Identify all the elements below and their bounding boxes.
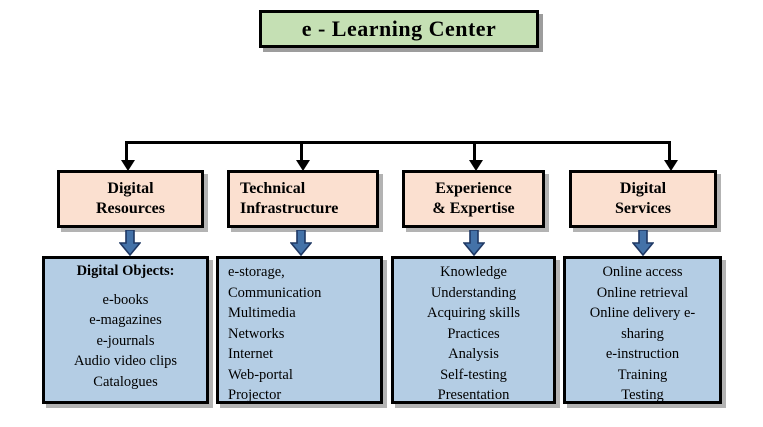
connector-drop-1: [125, 141, 128, 161]
e-learning-center-diagram: e - Learning Center Digital Resources Di…: [0, 0, 763, 427]
list-item: Training: [572, 365, 713, 386]
list-item: Networks: [228, 324, 374, 345]
content-list: e-books e-magazines e-journals Audio vid…: [51, 290, 200, 393]
list-item: Communication: [228, 283, 374, 304]
page-title: e - Learning Center: [302, 18, 497, 40]
list-item: Practices: [400, 324, 547, 345]
list-item: Presentation: [400, 385, 547, 404]
connector-drop-4: [668, 141, 671, 161]
content-box-experience-expertise: Knowledge Understanding Acquiring skills…: [391, 256, 556, 404]
header-line: Infrastructure: [240, 199, 338, 219]
header-line: Digital: [620, 179, 666, 199]
header-box-experience-expertise[interactable]: Experience & Expertise: [402, 170, 545, 228]
content-box-digital-resources: Digital Objects: e-books e-magazines e-j…: [42, 256, 209, 404]
list-item: Self-testing: [400, 365, 547, 386]
header-line: Experience: [435, 179, 511, 199]
block-arrow-down-icon: [290, 230, 312, 256]
block-arrow-down-icon: [632, 230, 654, 256]
list-item: Web-portal: [228, 365, 374, 386]
header-line: Digital: [107, 179, 153, 199]
list-item: e-magazines: [51, 310, 200, 331]
list-item: Acquiring skills: [400, 303, 547, 324]
list-item: Multimedia: [228, 303, 374, 324]
content-list: Online access Online retrieval Online de…: [572, 262, 713, 404]
list-item: Online delivery e-sharing: [572, 303, 713, 344]
header-box-digital-services[interactable]: Digital Services: [569, 170, 717, 228]
content-box-digital-services: Online access Online retrieval Online de…: [563, 256, 722, 404]
connector-drop-3: [473, 141, 476, 161]
header-box-digital-resources[interactable]: Digital Resources: [57, 170, 204, 228]
connector-bus-line: [125, 141, 671, 144]
list-item: e-instruction: [572, 344, 713, 365]
content-box-technical-infrastructure: e-storage, Communication Multimedia Netw…: [216, 256, 383, 404]
list-item: e-journals: [51, 331, 200, 352]
header-line: Resources: [96, 199, 165, 219]
list-item: Online access: [572, 262, 713, 283]
list-item: Knowledge: [400, 262, 547, 283]
connector-drop-2: [300, 141, 303, 161]
content-list: e-storage, Communication Multimedia Netw…: [225, 262, 374, 404]
diagram-title-box: e - Learning Center: [259, 10, 539, 48]
list-item: Understanding: [400, 283, 547, 304]
header-line: Technical: [240, 179, 305, 199]
list-item: Analysis: [400, 344, 547, 365]
list-item: e-books: [51, 290, 200, 311]
header-box-technical-infrastructure[interactable]: Technical Infrastructure: [227, 170, 379, 228]
block-arrow-down-icon: [119, 230, 141, 256]
block-arrow-down-icon: [463, 230, 485, 256]
list-item: Catalogues: [51, 372, 200, 393]
list-item: Audio video clips: [51, 351, 200, 372]
list-item: Internet: [228, 344, 374, 365]
list-item: Online retrieval: [572, 283, 713, 304]
header-line: & Expertise: [432, 199, 514, 219]
list-item: e-storage,: [228, 262, 374, 283]
list-item: Projector: [228, 385, 374, 404]
content-list: Knowledge Understanding Acquiring skills…: [400, 262, 547, 404]
list-item: Testing: [572, 385, 713, 404]
header-line: Services: [615, 199, 671, 219]
content-heading: Digital Objects:: [51, 262, 200, 282]
